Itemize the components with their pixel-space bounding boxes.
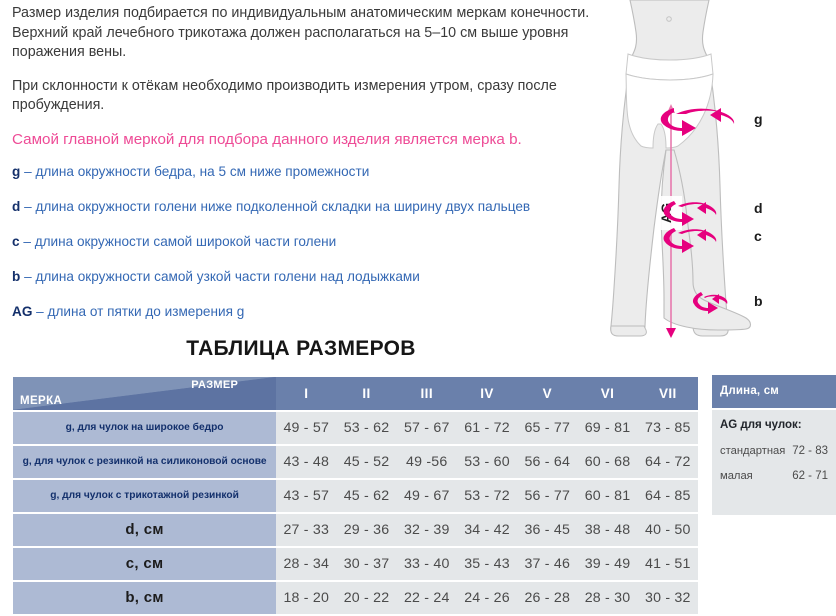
definition-item-ag: AG – длина от пятки до измерения g <box>12 303 624 320</box>
cell-r4-c0: 28 - 34 <box>276 548 336 580</box>
measure-label-c: c <box>754 228 762 244</box>
cell-r3-c4: 36 - 45 <box>517 514 577 546</box>
definition-key-d: d <box>12 199 20 214</box>
definition-item-c: c – длина окружности самой широкой части… <box>12 233 624 250</box>
cell-r5-c2: 22 - 24 <box>397 582 457 614</box>
row-label-g-wide-thigh: g, для чулок на широкое бедро <box>13 412 276 444</box>
length-panel-header: Длина, см <box>712 375 836 408</box>
key-measurement-note: Самой главной меркой для подбора данного… <box>12 130 612 150</box>
cell-r5-c1: 20 - 22 <box>336 582 396 614</box>
length-value-small: 62 - 71 <box>792 470 828 482</box>
cell-r5-c4: 26 - 28 <box>517 582 577 614</box>
table-row: d, см 27 - 33 29 - 36 32 - 39 34 - 42 36… <box>13 514 698 546</box>
cell-r4-c4: 37 - 46 <box>517 548 577 580</box>
cell-r5-c0: 18 - 20 <box>276 582 336 614</box>
size-table: РАЗМЕР МЕРКА I II III IV V VI VII g, для… <box>13 375 698 616</box>
definition-item-d: d – длина окружности голени ниже подколе… <box>12 198 624 215</box>
intro-paragraph-2: При склонности к отёкам необходимо произ… <box>12 77 612 116</box>
size-column-header-1: I <box>276 377 336 410</box>
cell-r1-c1: 45 - 52 <box>336 446 396 478</box>
definition-text-c: длина окружности самой широкой части гол… <box>35 234 337 249</box>
cell-r1-c4: 56 - 64 <box>517 446 577 478</box>
definition-key-b: b <box>12 269 20 284</box>
cell-r4-c6: 41 - 51 <box>638 548 698 580</box>
table-row: g, для чулок с резинкой на силиконовой о… <box>13 446 698 478</box>
cell-r3-c5: 38 - 48 <box>577 514 637 546</box>
measure-label-d: d <box>754 200 763 216</box>
table-row: g, для чулок на широкое бедро 49 - 57 53… <box>13 412 698 444</box>
cell-r2-c0: 43 - 57 <box>276 480 336 512</box>
page-title: ТАБЛИЦА РАЗМЕРОВ <box>0 337 602 361</box>
cell-r5-c5: 28 - 30 <box>577 582 637 614</box>
cell-r1-c3: 53 - 60 <box>457 446 517 478</box>
table-row: c, см 28 - 34 30 - 37 33 - 40 35 - 43 37… <box>13 548 698 580</box>
table-header-row: РАЗМЕР МЕРКА I II III IV V VI VII <box>13 377 698 410</box>
size-column-header-4: IV <box>457 377 517 410</box>
size-column-header-3: III <box>397 377 457 410</box>
cell-r1-c0: 43 - 48 <box>276 446 336 478</box>
cell-r1-c6: 64 - 72 <box>638 446 698 478</box>
leg-diagram-svg: AG g d c b <box>600 0 836 345</box>
length-value-standard: 72 - 83 <box>792 445 828 457</box>
cell-r0-c5: 69 - 81 <box>577 412 637 444</box>
length-name-standard: стандартная <box>720 445 785 457</box>
measure-label-g: g <box>754 111 763 127</box>
cell-r0-c4: 65 - 77 <box>517 412 577 444</box>
definition-item-b: b – длина окружности самой узкой части г… <box>12 268 624 285</box>
length-row-standard: стандартная 72 - 83 <box>720 445 828 457</box>
cell-r3-c6: 40 - 50 <box>638 514 698 546</box>
cell-r0-c6: 73 - 85 <box>638 412 698 444</box>
cell-r4-c2: 33 - 40 <box>397 548 457 580</box>
cell-r2-c1: 45 - 62 <box>336 480 396 512</box>
definition-item-g: g – длина окружности бедра, на 5 см ниже… <box>12 163 624 180</box>
cell-r1-c2: 49 -56 <box>397 446 457 478</box>
row-label-b: b, см <box>13 582 276 614</box>
cell-r2-c6: 64 - 85 <box>638 480 698 512</box>
definition-dash-ag: – <box>36 304 44 319</box>
cell-r4-c3: 35 - 43 <box>457 548 517 580</box>
cell-r2-c3: 53 - 72 <box>457 480 517 512</box>
cell-r1-c5: 60 - 68 <box>577 446 637 478</box>
table-row: g, для чулок с трикотажной резинкой 43 -… <box>13 480 698 512</box>
cell-r4-c1: 30 - 37 <box>336 548 396 580</box>
cell-r0-c3: 61 - 72 <box>457 412 517 444</box>
corner-label-measure: МЕРКА <box>20 395 62 407</box>
row-label-g-knit-band: g, для чулок с трикотажной резинкой <box>13 480 276 512</box>
length-name-small: малая <box>720 470 753 482</box>
size-column-header-7: VII <box>638 377 698 410</box>
definition-text-b: длина окружности самой узкой части голен… <box>35 269 419 284</box>
measurement-definitions-list: g – длина окружности бедра, на 5 см ниже… <box>12 163 624 338</box>
cell-r5-c6: 30 - 32 <box>638 582 698 614</box>
table-corner-header: РАЗМЕР МЕРКА <box>13 377 276 410</box>
table-row: b, см 18 - 20 20 - 22 22 - 24 24 - 26 26… <box>13 582 698 614</box>
cell-r2-c2: 49 - 67 <box>397 480 457 512</box>
cell-r2-c4: 56 - 77 <box>517 480 577 512</box>
definition-text-g: длина окружности бедра, на 5 см ниже про… <box>35 164 369 179</box>
length-panel-body: AG для чулок: стандартная 72 - 83 малая … <box>712 410 836 515</box>
cell-r2-c5: 60 - 81 <box>577 480 637 512</box>
row-label-d: d, см <box>13 514 276 546</box>
corner-label-size: РАЗМЕР <box>191 379 238 391</box>
length-panel-title: AG для чулок: <box>720 419 828 431</box>
length-panel: Длина, см AG для чулок: стандартная 72 -… <box>712 375 836 515</box>
cell-r0-c2: 57 - 67 <box>397 412 457 444</box>
row-label-g-silicone-band: g, для чулок с резинкой на силиконовой о… <box>13 446 276 478</box>
definition-key-c: c <box>12 234 20 249</box>
definition-dash-c: – <box>23 234 31 249</box>
cell-r3-c3: 34 - 42 <box>457 514 517 546</box>
cell-r3-c2: 32 - 39 <box>397 514 457 546</box>
cell-r0-c1: 53 - 62 <box>336 412 396 444</box>
definition-dash-b: – <box>24 269 32 284</box>
size-column-header-2: II <box>336 377 396 410</box>
cell-r0-c0: 49 - 57 <box>276 412 336 444</box>
intro-text-block: Размер изделия подбирается по индивидуал… <box>12 4 612 166</box>
definition-text-d: длина окружности голени ниже подколенной… <box>35 199 530 214</box>
cell-r5-c3: 24 - 26 <box>457 582 517 614</box>
cell-r3-c0: 27 - 33 <box>276 514 336 546</box>
row-label-c: c, см <box>13 548 276 580</box>
definition-dash-d: – <box>24 199 32 214</box>
cell-r3-c1: 29 - 36 <box>336 514 396 546</box>
cell-r4-c5: 39 - 49 <box>577 548 637 580</box>
definition-dash-g: – <box>24 164 32 179</box>
intro-paragraph-1: Размер изделия подбирается по индивидуал… <box>12 4 612 63</box>
definition-key-ag: AG <box>12 304 32 319</box>
size-column-header-6: VI <box>577 377 637 410</box>
size-column-header-5: V <box>517 377 577 410</box>
length-row-small: малая 62 - 71 <box>720 470 828 482</box>
definition-text-ag: длина от пятки до измерения g <box>48 304 245 319</box>
measure-label-b: b <box>754 293 763 309</box>
leg-measurement-diagram: AG g d c b <box>600 0 836 345</box>
far-foot <box>611 326 647 336</box>
definition-key-g: g <box>12 164 20 179</box>
